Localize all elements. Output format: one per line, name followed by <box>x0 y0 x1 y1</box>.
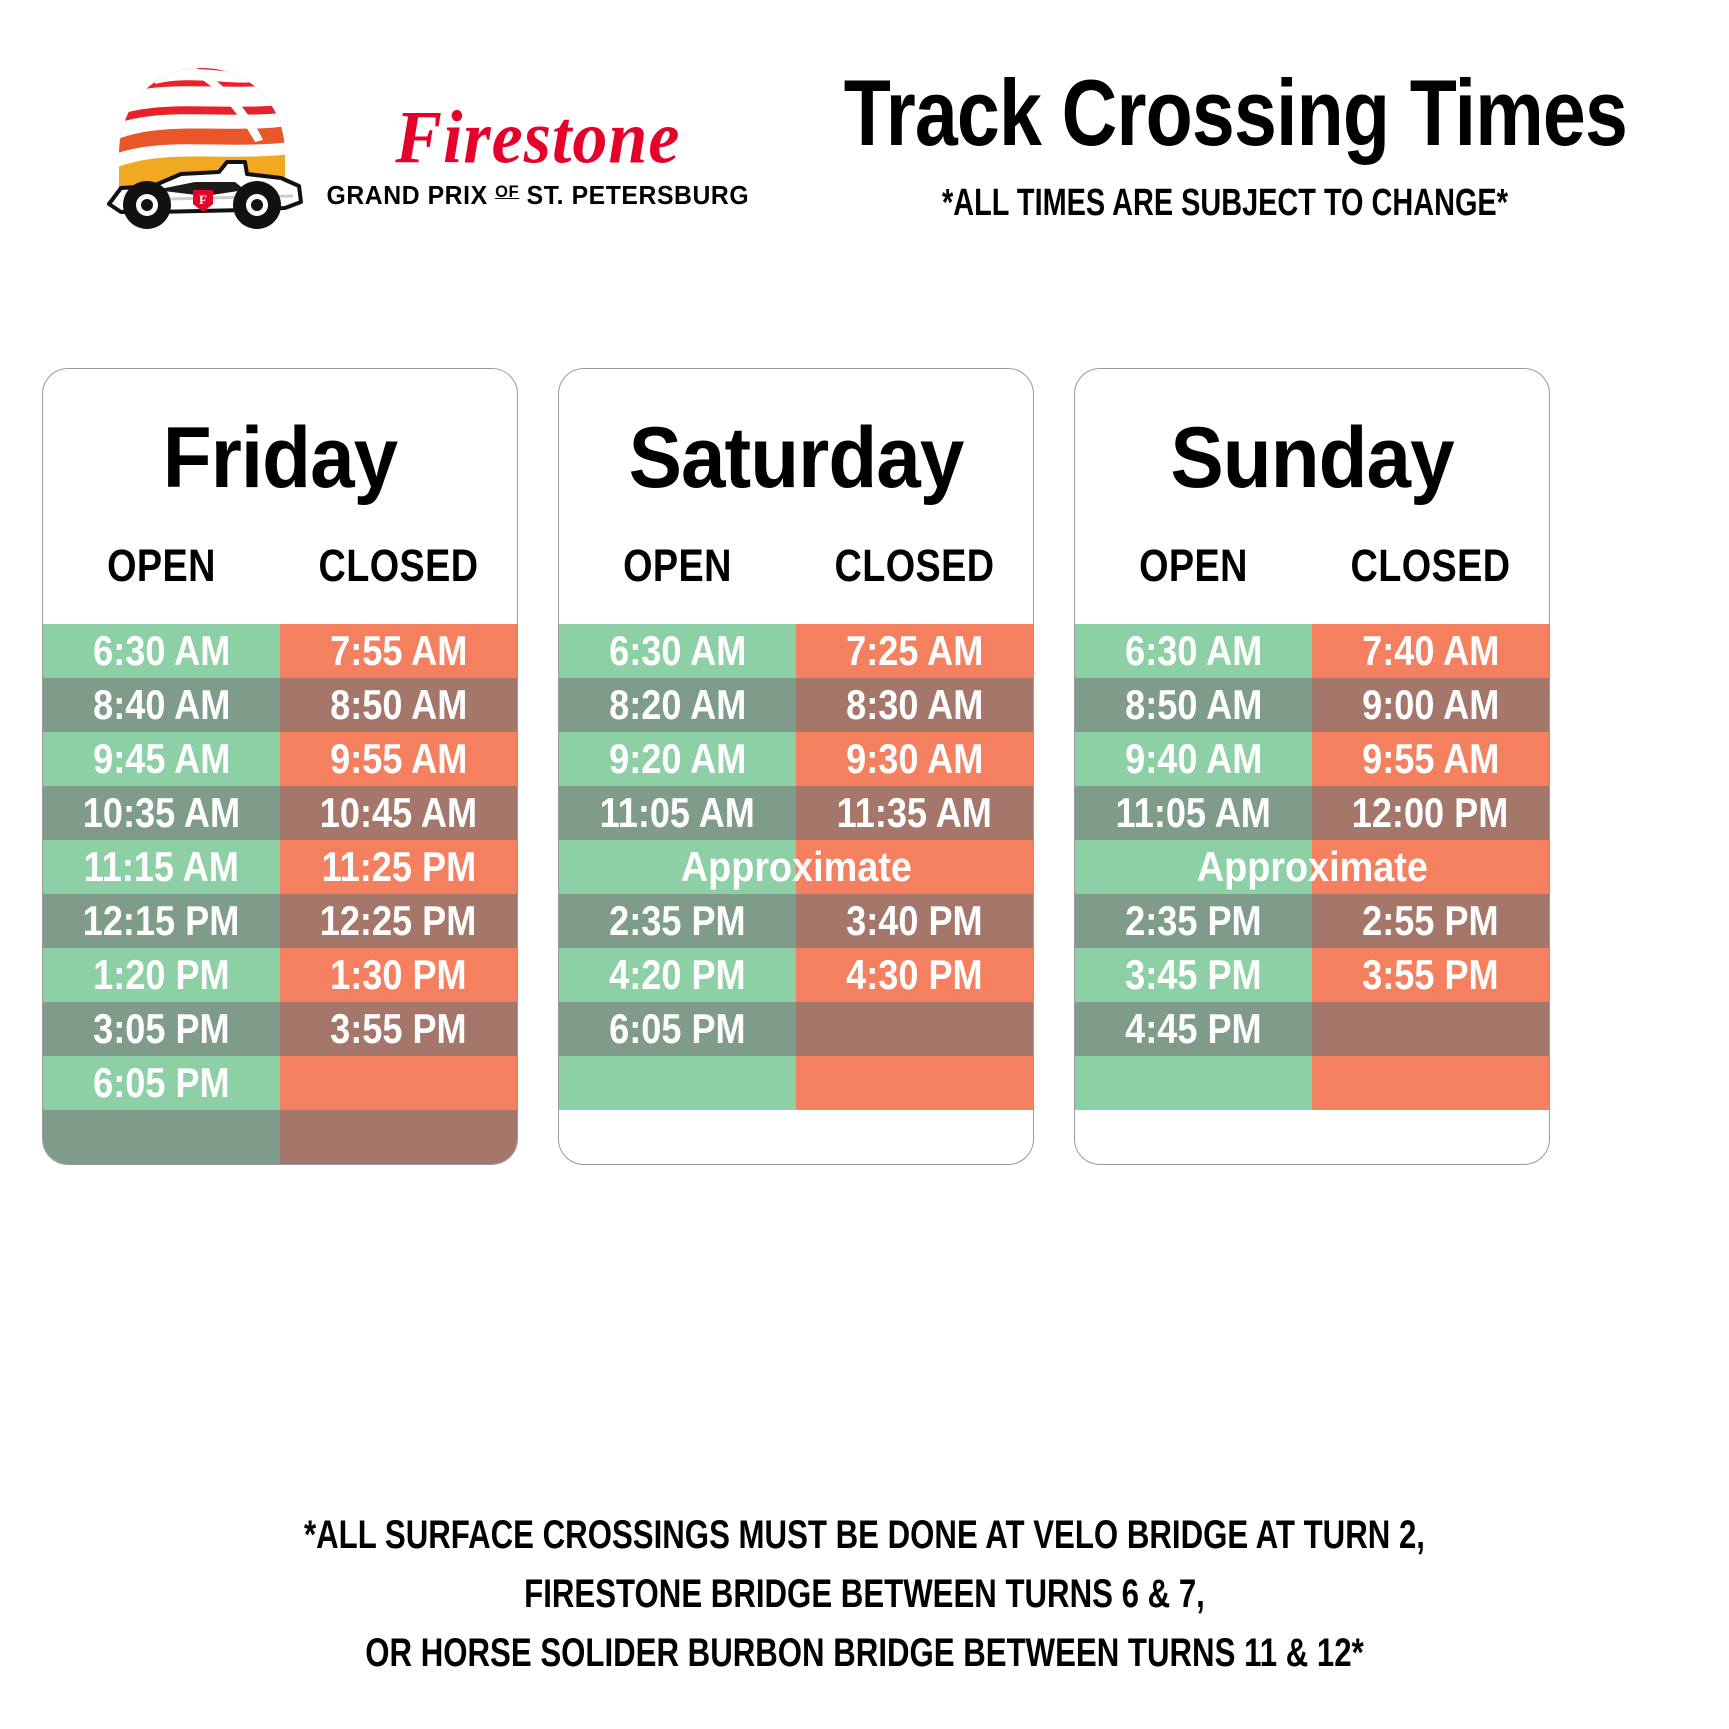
column-header-closed: CLOSED <box>299 543 498 588</box>
column-headers: OPENCLOSED <box>559 501 1033 624</box>
column-header-open: OPEN <box>578 543 777 588</box>
table-row: 3:05 PM3:55 PM <box>43 1002 517 1056</box>
table-row: Approximate <box>1075 840 1549 894</box>
open-time-text: 8:40 AM <box>93 684 230 726</box>
open-time-text: 8:20 AM <box>609 684 746 726</box>
table-row: 6:30 AM7:55 AM <box>43 624 517 678</box>
table-row: 8:50 AM9:00 AM <box>1075 678 1549 732</box>
cell-closed-time: 1:30 PM <box>280 948 517 1002</box>
day-card-friday: FridayOPENCLOSED6:30 AM7:55 AM8:40 AM8:5… <box>42 368 518 1165</box>
column-headers: OPENCLOSED <box>1075 501 1549 624</box>
day-card-title: Friday <box>60 369 501 501</box>
table-row: 6:05 PM <box>43 1056 517 1110</box>
firestone-wordmark-block: Firestone GRAND PRIX OF ST. PETERSBURG <box>320 106 756 212</box>
open-time-text: 6:30 AM <box>609 630 746 672</box>
table-row: 11:05 AM12:00 PM <box>1075 786 1549 840</box>
cell-open-time: 4:20 PM <box>559 948 796 1002</box>
cell-open-time: 9:40 AM <box>1075 732 1312 786</box>
column-header-open: OPEN <box>62 543 261 588</box>
schedule-rows: 6:30 AM7:55 AM8:40 AM8:50 AM9:45 AM9:55 … <box>43 624 517 1164</box>
table-row: 6:30 AM7:25 AM <box>559 624 1033 678</box>
table-row: 4:45 PM <box>1075 1002 1549 1056</box>
cell-open-time: 12:15 PM <box>43 894 280 948</box>
cell-closed-time: 12:00 PM <box>1312 786 1549 840</box>
cell-open-time <box>1075 1056 1312 1110</box>
open-time-text: 3:45 PM <box>1125 954 1262 996</box>
table-row <box>1075 1056 1549 1110</box>
closed-time-text: 7:40 AM <box>1362 630 1499 672</box>
cell-closed-time: 2:55 PM <box>1312 894 1549 948</box>
cell-open-time: 9:45 AM <box>43 732 280 786</box>
open-time-text: 6:05 PM <box>609 1008 746 1050</box>
open-time-text: 2:35 PM <box>609 900 746 942</box>
closed-time-text: 3:55 PM <box>330 1008 467 1050</box>
table-row <box>559 1056 1033 1110</box>
day-schedule-cards: FridayOPENCLOSED6:30 AM7:55 AM8:40 AM8:5… <box>0 368 1729 1165</box>
cell-open-time: 11:15 AM <box>43 840 280 894</box>
cell-open-time: 8:40 AM <box>43 678 280 732</box>
cell-open-time: 1:20 PM <box>43 948 280 1002</box>
cell-open-time: 6:05 PM <box>559 1002 796 1056</box>
column-header-open: OPEN <box>1094 543 1293 588</box>
closed-time-text: 3:40 PM <box>846 900 983 942</box>
open-time-text: 9:40 AM <box>1125 738 1262 780</box>
closed-time-text: 8:30 AM <box>846 684 983 726</box>
open-time-text: 6:05 PM <box>93 1062 230 1104</box>
open-time-text: 4:20 PM <box>609 954 746 996</box>
cell-open-time <box>559 840 796 894</box>
table-row: 11:05 AM11:35 AM <box>559 786 1033 840</box>
closed-time-text: 3:55 PM <box>1362 954 1499 996</box>
open-time-text: 3:05 PM <box>93 1008 230 1050</box>
cell-closed-time: 9:00 AM <box>1312 678 1549 732</box>
cell-closed-time: 3:55 PM <box>1312 948 1549 1002</box>
day-card-saturday: SaturdayOPENCLOSED6:30 AM7:25 AM8:20 AM8… <box>558 368 1034 1165</box>
cell-closed-time: 8:30 AM <box>796 678 1033 732</box>
cell-closed-time <box>796 1056 1033 1110</box>
open-time-text: 12:15 PM <box>83 900 240 942</box>
column-header-closed: CLOSED <box>815 543 1014 588</box>
grand-prix-tagline: GRAND PRIX OF ST. PETERSBURG <box>327 182 750 211</box>
table-row: 9:20 AM9:30 AM <box>559 732 1033 786</box>
table-row: 9:45 AM9:55 AM <box>43 732 517 786</box>
cell-open-time: 11:05 AM <box>559 786 796 840</box>
table-row: 8:20 AM8:30 AM <box>559 678 1033 732</box>
tagline-of: OF <box>495 182 519 201</box>
closed-time-text: 4:30 PM <box>846 954 983 996</box>
table-row: 6:30 AM7:40 AM <box>1075 624 1549 678</box>
cell-open-time <box>1075 840 1312 894</box>
cell-open-time: 2:35 PM <box>1075 894 1312 948</box>
cell-closed-time <box>280 1110 517 1164</box>
table-row: 3:45 PM3:55 PM <box>1075 948 1549 1002</box>
table-row: 6:05 PM <box>559 1002 1033 1056</box>
cell-closed-time <box>1312 840 1549 894</box>
closed-time-text: 9:30 AM <box>846 738 983 780</box>
poster-footer-notes: *ALL SURFACE CROSSINGS MUST BE DONE AT V… <box>0 1506 1729 1684</box>
cell-open-time: 8:50 AM <box>1075 678 1312 732</box>
cell-closed-time: 12:25 PM <box>280 894 517 948</box>
open-time-text: 6:30 AM <box>93 630 230 672</box>
cell-closed-time: 8:50 AM <box>280 678 517 732</box>
schedule-rows: 6:30 AM7:40 AM8:50 AM9:00 AM9:40 AM9:55 … <box>1075 624 1549 1110</box>
open-time-text: 9:20 AM <box>609 738 746 780</box>
cell-closed-time: 11:25 PM <box>280 840 517 894</box>
tagline-post: ST. PETERSBURG <box>519 182 749 210</box>
table-row: 2:35 PM2:55 PM <box>1075 894 1549 948</box>
table-row: 1:20 PM1:30 PM <box>43 948 517 1002</box>
table-row: Approximate <box>559 840 1033 894</box>
cell-closed-time <box>1312 1002 1549 1056</box>
closed-time-text: 2:55 PM <box>1362 900 1499 942</box>
cell-open-time: 6:30 AM <box>559 624 796 678</box>
open-time-text: 10:35 AM <box>83 792 240 834</box>
cell-open-time: 3:45 PM <box>1075 948 1312 1002</box>
poster-header: F Firestone GRAND PRIX OF ST. PETERSBURG… <box>0 62 1729 252</box>
open-time-text: 9:45 AM <box>93 738 230 780</box>
cell-open-time: 3:05 PM <box>43 1002 280 1056</box>
open-time-text: 1:20 PM <box>93 954 230 996</box>
tagline-pre: GRAND PRIX <box>327 182 496 210</box>
cell-closed-time: 4:30 PM <box>796 948 1033 1002</box>
cell-closed-time <box>1312 1056 1549 1110</box>
cell-closed-time <box>796 1002 1033 1056</box>
closed-time-text: 12:25 PM <box>320 900 477 942</box>
cell-open-time: 6:30 AM <box>43 624 280 678</box>
table-row: 4:20 PM4:30 PM <box>559 948 1033 1002</box>
open-time-text: 4:45 PM <box>1125 1008 1262 1050</box>
cell-open-time: 9:20 AM <box>559 732 796 786</box>
cell-closed-time: 7:55 AM <box>280 624 517 678</box>
closed-time-text: 11:25 PM <box>321 846 476 888</box>
closed-time-text: 1:30 PM <box>330 954 467 996</box>
footer-note-line: FIRESTONE BRIDGE BETWEEN TURNS 6 & 7, <box>190 1565 1539 1624</box>
closed-time-text: 7:55 AM <box>330 630 467 672</box>
page-subtitle: *ALL TIMES ARE SUBJECT TO CHANGE* <box>872 184 1579 222</box>
title-block: Track Crossing Times *ALL TIMES ARE SUBJ… <box>760 66 1690 222</box>
day-card-sunday: SundayOPENCLOSED6:30 AM7:40 AM8:50 AM9:0… <box>1074 368 1550 1165</box>
day-card-title: Sunday <box>1092 369 1533 501</box>
firestone-grand-prix-brand: F Firestone GRAND PRIX OF ST. PETERSBURG <box>95 62 756 237</box>
closed-time-text: 11:35 AM <box>837 792 992 834</box>
cell-closed-time: 9:55 AM <box>280 732 517 786</box>
cell-open-time: 10:35 AM <box>43 786 280 840</box>
table-row <box>43 1110 517 1164</box>
cell-closed-time: 3:55 PM <box>280 1002 517 1056</box>
open-time-text: 11:05 AM <box>1116 792 1271 834</box>
open-time-text: 11:05 AM <box>600 792 755 834</box>
firestone-grand-prix-car-sunset-logo: F <box>95 62 310 237</box>
open-time-text: 8:50 AM <box>1125 684 1262 726</box>
closed-time-text: 8:50 AM <box>330 684 467 726</box>
table-row: 12:15 PM12:25 PM <box>43 894 517 948</box>
cell-open-time <box>43 1110 280 1164</box>
cell-open-time <box>559 1056 796 1110</box>
open-time-text: 11:15 AM <box>84 846 239 888</box>
cell-closed-time: 9:55 AM <box>1312 732 1549 786</box>
open-time-text: 6:30 AM <box>1125 630 1262 672</box>
column-headers: OPENCLOSED <box>43 501 517 624</box>
cell-closed-time <box>796 840 1033 894</box>
cell-open-time: 4:45 PM <box>1075 1002 1312 1056</box>
closed-time-text: 9:55 AM <box>330 738 467 780</box>
column-header-closed: CLOSED <box>1331 543 1530 588</box>
schedule-rows: 6:30 AM7:25 AM8:20 AM8:30 AM9:20 AM9:30 … <box>559 624 1033 1110</box>
closed-time-text: 9:55 AM <box>1362 738 1499 780</box>
table-row: 11:15 AM11:25 PM <box>43 840 517 894</box>
day-card-title: Saturday <box>576 369 1017 501</box>
cell-open-time: 2:35 PM <box>559 894 796 948</box>
closed-time-text: 7:25 AM <box>846 630 983 672</box>
firestone-wordmark: Firestone <box>395 103 680 175</box>
cell-closed-time: 9:30 AM <box>796 732 1033 786</box>
table-row: 10:35 AM10:45 AM <box>43 786 517 840</box>
svg-text:F: F <box>199 192 207 207</box>
cell-closed-time: 7:40 AM <box>1312 624 1549 678</box>
table-row: 2:35 PM3:40 PM <box>559 894 1033 948</box>
cell-closed-time: 10:45 AM <box>280 786 517 840</box>
cell-open-time: 6:05 PM <box>43 1056 280 1110</box>
closed-time-text: 9:00 AM <box>1362 684 1499 726</box>
cell-open-time: 6:30 AM <box>1075 624 1312 678</box>
closed-time-text: 12:00 PM <box>1352 792 1509 834</box>
cell-closed-time: 3:40 PM <box>796 894 1033 948</box>
cell-closed-time: 7:25 AM <box>796 624 1033 678</box>
open-time-text: 2:35 PM <box>1125 900 1262 942</box>
footer-note-line: OR HORSE SOLIDER BURBON BRIDGE BETWEEN T… <box>190 1624 1539 1683</box>
table-row: 8:40 AM8:50 AM <box>43 678 517 732</box>
table-row: 9:40 AM9:55 AM <box>1075 732 1549 786</box>
cell-closed-time: 11:35 AM <box>796 786 1033 840</box>
track-crossing-times-poster: F Firestone GRAND PRIX OF ST. PETERSBURG… <box>0 0 1729 1729</box>
page-title: Track Crossing Times <box>844 66 1607 160</box>
cell-open-time: 11:05 AM <box>1075 786 1312 840</box>
cell-closed-time <box>280 1056 517 1110</box>
footer-note-line: *ALL SURFACE CROSSINGS MUST BE DONE AT V… <box>190 1506 1539 1565</box>
cell-open-time: 8:20 AM <box>559 678 796 732</box>
closed-time-text: 10:45 AM <box>320 792 477 834</box>
